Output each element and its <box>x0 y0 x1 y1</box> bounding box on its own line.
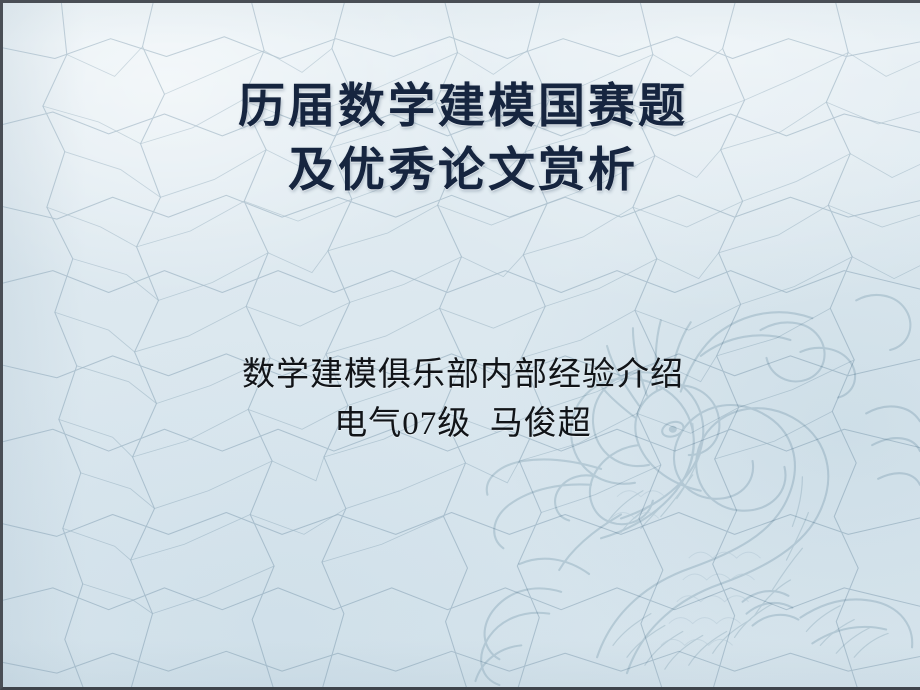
slide-title: 历届数学建模国赛题 及优秀论文赏析 <box>3 75 920 203</box>
slide-content: 历届数学建模国赛题 及优秀论文赏析 数学建模俱乐部内部经验介绍 电气07级 马俊… <box>3 3 920 687</box>
subtitle-line-1: 数学建模俱乐部内部经验介绍 <box>3 351 920 400</box>
title-line-1: 历届数学建模国赛题 <box>3 75 920 139</box>
subtitle-line-2: 电气07级 马俊超 <box>3 400 920 449</box>
slide-subtitle: 数学建模俱乐部内部经验介绍 电气07级 马俊超 <box>3 351 920 449</box>
slide-canvas: 历届数学建模国赛题 及优秀论文赏析 数学建模俱乐部内部经验介绍 电气07级 马俊… <box>0 0 920 690</box>
title-line-2: 及优秀论文赏析 <box>3 139 920 203</box>
